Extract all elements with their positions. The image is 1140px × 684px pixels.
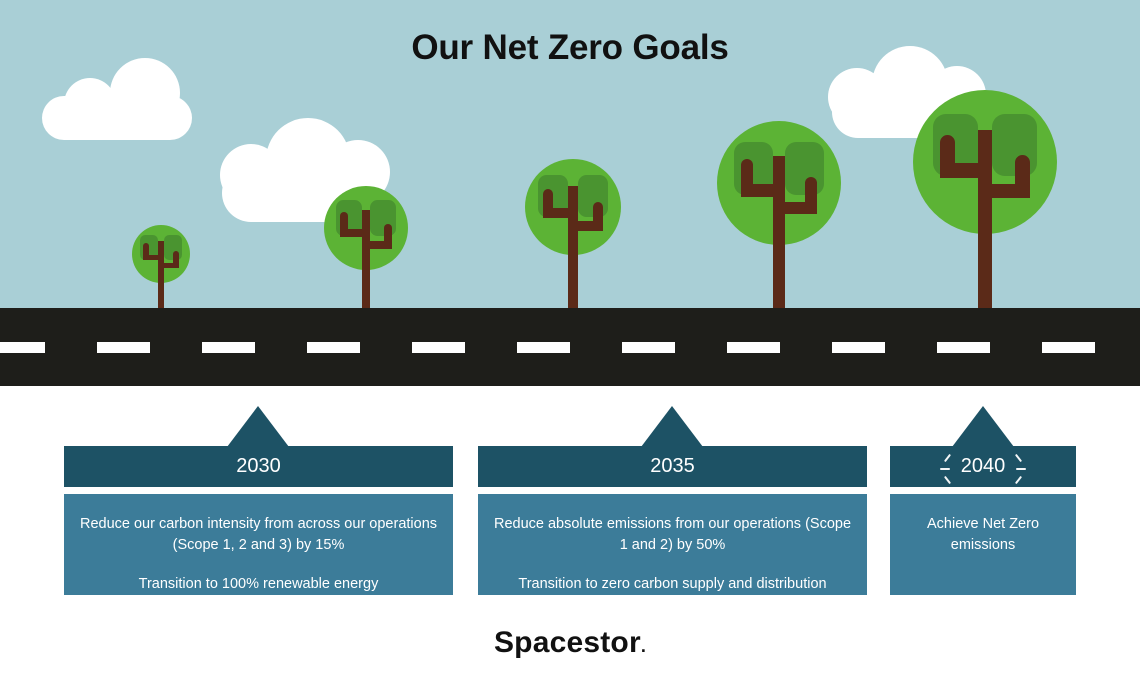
card-header-2035: 2035 — [478, 446, 867, 487]
page-title: Our Net Zero Goals — [0, 28, 1140, 68]
tree-1-smallest — [132, 225, 190, 308]
road — [0, 308, 1140, 386]
tree-branch-right-riser — [173, 251, 179, 268]
road-dash — [1042, 342, 1095, 353]
sparkle-ray-icon — [944, 476, 951, 484]
year-label: 2035 — [650, 455, 695, 477]
card-pointer-triangle — [952, 406, 1014, 447]
card-goal-line: Transition to zero carbon supply and dis… — [492, 574, 853, 595]
card-goal-line: Transition to 100% renewable energy — [78, 574, 439, 595]
tree-trunk — [978, 130, 992, 308]
sparkle-ray-icon — [944, 454, 951, 462]
tree-trunk — [773, 156, 785, 308]
sparkle-ray-icon — [1015, 454, 1022, 462]
tree-branch-right-riser — [384, 224, 392, 249]
card-body-2040: Achieve Net Zero emissions — [890, 494, 1076, 595]
card-pointer-triangle — [641, 406, 703, 447]
tree-trunk — [568, 186, 578, 308]
brand-mark: . — [641, 636, 646, 656]
tree-branch-left-riser — [143, 243, 149, 260]
tree-branch-right-riser — [593, 202, 603, 231]
tree-3 — [525, 159, 621, 308]
sparkle-ray-icon — [1015, 476, 1022, 484]
card-body-2035: Reduce absolute emissions from our opera… — [478, 494, 867, 595]
road-dash — [0, 342, 45, 353]
tree-branch-right-riser — [1015, 155, 1029, 198]
cloud-left-icon — [42, 58, 192, 138]
brand-logo: Spacestor. — [0, 626, 1140, 660]
tree-branch-left-riser — [741, 159, 753, 196]
tree-branch-right-riser — [805, 177, 817, 214]
tree-branch-left-riser — [340, 212, 348, 237]
road-dash — [727, 342, 780, 353]
cloud-puff-shape — [64, 78, 116, 130]
card-goal-line: Achieve Net Zero emissions — [904, 514, 1062, 556]
tree-5-largest — [913, 90, 1057, 308]
card-header-2040: 2040 — [890, 446, 1076, 487]
cloud-puff-shape — [110, 58, 180, 128]
cloud-puff-shape — [254, 162, 328, 222]
card-goal-line: Reduce absolute emissions from our opera… — [492, 514, 853, 556]
tree-trunk — [362, 210, 370, 308]
timeline-cards: 2030 Reduce our carbon intensity from ac… — [0, 386, 1140, 616]
tree-branch-left-riser — [940, 135, 954, 178]
road-dash — [307, 342, 360, 353]
road-dash — [937, 342, 990, 353]
tree-4 — [717, 121, 841, 308]
tree-2 — [324, 186, 408, 308]
tree-branch-left-riser — [543, 189, 553, 218]
road-dash — [832, 342, 885, 353]
year-wrap-2030: 2030 — [234, 455, 283, 478]
infographic-root: Our Net Zero Goals — [0, 0, 1140, 684]
brand-name: Spacestor — [494, 626, 641, 659]
card-pointer-triangle — [227, 406, 289, 447]
road-dash — [517, 342, 570, 353]
road-dash — [412, 342, 465, 353]
tree-trunk — [158, 241, 164, 308]
sparkle-ray-icon — [940, 468, 950, 470]
year-label: 2030 — [236, 455, 281, 477]
road-dash — [202, 342, 255, 353]
year-wrap-2035: 2035 — [648, 455, 697, 478]
card-body-2030: Reduce our carbon intensity from across … — [64, 494, 453, 595]
card-goal-line: Reduce our carbon intensity from across … — [78, 514, 439, 556]
road-dash-markings — [0, 342, 1140, 353]
sky-scene: Our Net Zero Goals — [0, 0, 1140, 308]
road-dash — [97, 342, 150, 353]
road-dash — [622, 342, 675, 353]
sparkle-ray-icon — [1016, 468, 1026, 470]
year-wrap-2040: 2040 — [959, 455, 1008, 478]
card-header-2030: 2030 — [64, 446, 453, 487]
year-label: 2040 — [961, 455, 1006, 477]
